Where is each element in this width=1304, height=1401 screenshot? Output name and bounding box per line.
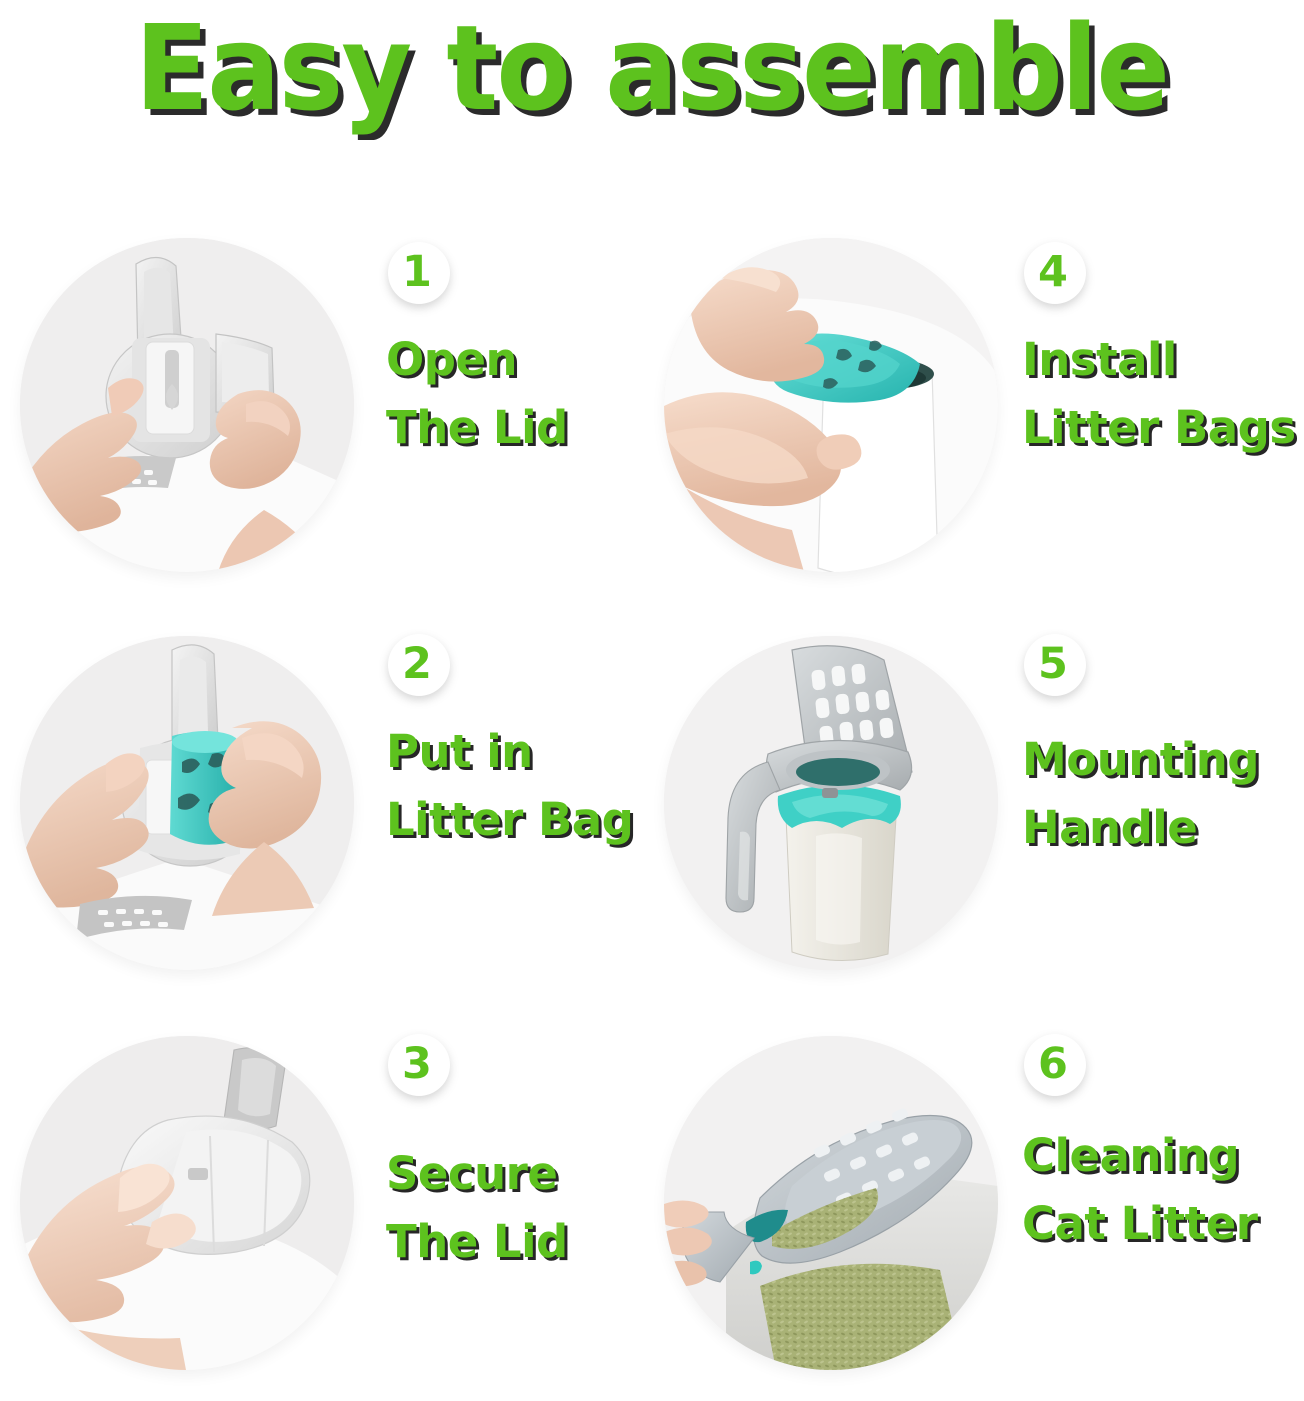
step-card-3: 3 Secure The Lid <box>0 1024 652 1397</box>
step-badge-4: 4 <box>1024 242 1086 304</box>
step-number-3: 3 <box>402 1043 432 1086</box>
step-text-5: 5 Mounting Handle <box>1004 624 1304 863</box>
step-caption-2-line1: Put in <box>386 718 652 786</box>
assembly-steps-grid: 1 Open The Lid <box>0 232 1304 1397</box>
step-text-2: 2 Put in Litter Bag <box>360 624 652 855</box>
step-card-5: 5 Mounting Handle <box>652 624 1304 1024</box>
step-photo-3 <box>12 1030 360 1378</box>
step-caption-4: Install Litter Bags <box>1022 326 1304 463</box>
step-caption-3-line1: Secure <box>386 1140 652 1208</box>
step-text-6: 6 Cleaning Cat Litter <box>1004 1024 1304 1259</box>
photo-securing-lid-illustration <box>20 1036 354 1370</box>
step-text-3: 3 Secure The Lid <box>360 1024 652 1277</box>
photo-inserting-bag-roll-illustration <box>20 636 354 970</box>
page-title: Easy to assemble <box>135 6 1168 131</box>
photo-mounted-handle-assembly <box>664 636 998 970</box>
step-badge-1: 1 <box>388 242 450 304</box>
step-text-1: 1 Open The Lid <box>360 232 652 463</box>
step-card-6: 6 Cleaning Cat Litter <box>652 1024 1304 1397</box>
step-photo-1 <box>12 232 360 580</box>
step-caption-2-line2: Litter Bag <box>386 786 652 854</box>
step-badge-3: 3 <box>388 1034 450 1096</box>
step-number-2: 2 <box>402 643 432 686</box>
photo-securing-lid <box>20 1036 354 1370</box>
photo-mounted-handle-assembly-illustration <box>664 636 998 970</box>
step-badge-2: 2 <box>388 634 450 696</box>
step-caption-5-line2: Handle <box>1022 794 1304 862</box>
step-caption-2: Put in Litter Bag <box>386 718 652 855</box>
step-photo-5 <box>656 630 1004 978</box>
step-number-4: 4 <box>1038 251 1068 294</box>
step-caption-1-line2: The Lid <box>386 394 652 462</box>
step-caption-4-line1: Install <box>1022 326 1304 394</box>
step-card-1: 1 Open The Lid <box>0 232 652 624</box>
step-caption-6-line1: Cleaning <box>1022 1122 1304 1190</box>
step-caption-5-line1: Mounting <box>1022 726 1304 794</box>
page-header: Easy to assemble <box>0 6 1304 131</box>
step-number-6: 6 <box>1038 1043 1068 1086</box>
step-caption-3-line2: The Lid <box>386 1208 652 1276</box>
step-badge-6: 6 <box>1024 1034 1086 1096</box>
step-number-1: 1 <box>402 251 432 294</box>
step-caption-3: Secure The Lid <box>386 1140 652 1277</box>
photo-inserting-bag-roll <box>20 636 354 970</box>
photo-installing-litter-bag <box>664 238 998 572</box>
photo-scooping-cat-litter <box>664 1036 998 1370</box>
photo-hands-opening-lid <box>20 238 354 572</box>
photo-installing-litter-bag-illustration <box>664 238 998 572</box>
step-text-4: 4 Install Litter Bags <box>1004 232 1304 463</box>
step-photo-4 <box>656 232 1004 580</box>
step-photo-6 <box>656 1030 1004 1378</box>
step-card-2: 2 Put in Litter Bag <box>0 624 652 1024</box>
step-caption-6: Cleaning Cat Litter <box>1022 1122 1304 1259</box>
step-caption-4-line2: Litter Bags <box>1022 394 1304 462</box>
photo-hands-opening-lid-illustration <box>20 238 354 572</box>
step-caption-5: Mounting Handle <box>1022 726 1304 863</box>
step-caption-6-line2: Cat Litter <box>1022 1190 1304 1258</box>
step-photo-2 <box>12 630 360 978</box>
step-number-5: 5 <box>1038 643 1068 686</box>
step-caption-1-line1: Open <box>386 326 652 394</box>
photo-scooping-cat-litter-illustration <box>664 1036 998 1370</box>
step-caption-1: Open The Lid <box>386 326 652 463</box>
step-card-4: 4 Install Litter Bags <box>652 232 1304 624</box>
step-badge-5: 5 <box>1024 634 1086 696</box>
